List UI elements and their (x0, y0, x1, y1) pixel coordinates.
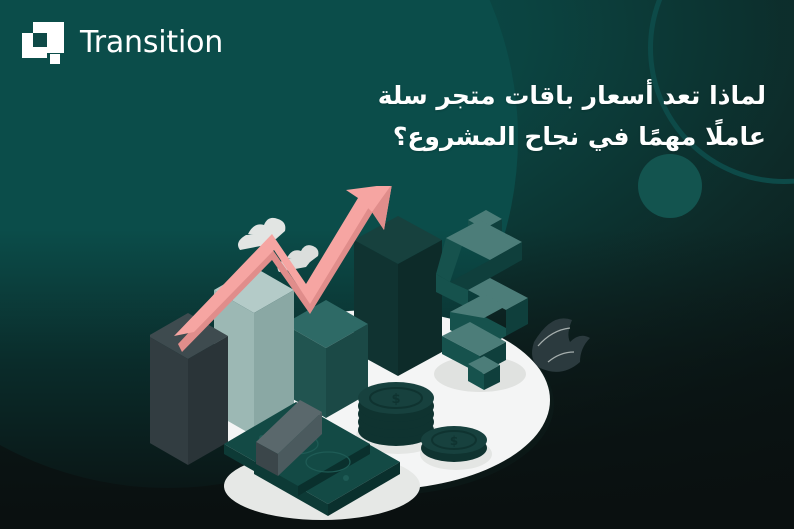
logo-dot (50, 54, 60, 64)
brand-name: Transition (80, 28, 223, 58)
poster-canvas: Transition لماذا تعد أسعار باقات متجر سل… (0, 0, 794, 529)
bar-teal (284, 300, 368, 418)
isometric-growth-chart-illustration: $ $ (150, 186, 620, 529)
headline-line-1: لماذا تعد أسعار باقات متجر سلة (206, 76, 766, 117)
dark-leaf-icon (532, 318, 590, 372)
headline-line-2: عاملًا مهمًا في نجاح المشروع؟ (206, 117, 766, 158)
logo-notch (33, 33, 47, 47)
brand-lockup: Transition (20, 20, 223, 66)
transition-squares-logo-icon (20, 20, 66, 66)
page-title: لماذا تعد أسعار باقات متجر سلة عاملًا مه… (206, 76, 766, 157)
svg-text:$: $ (391, 392, 400, 407)
svg-text:$: $ (450, 434, 458, 448)
coin-stack-short: $ (420, 426, 492, 470)
filled-dot-decoration (638, 154, 702, 218)
